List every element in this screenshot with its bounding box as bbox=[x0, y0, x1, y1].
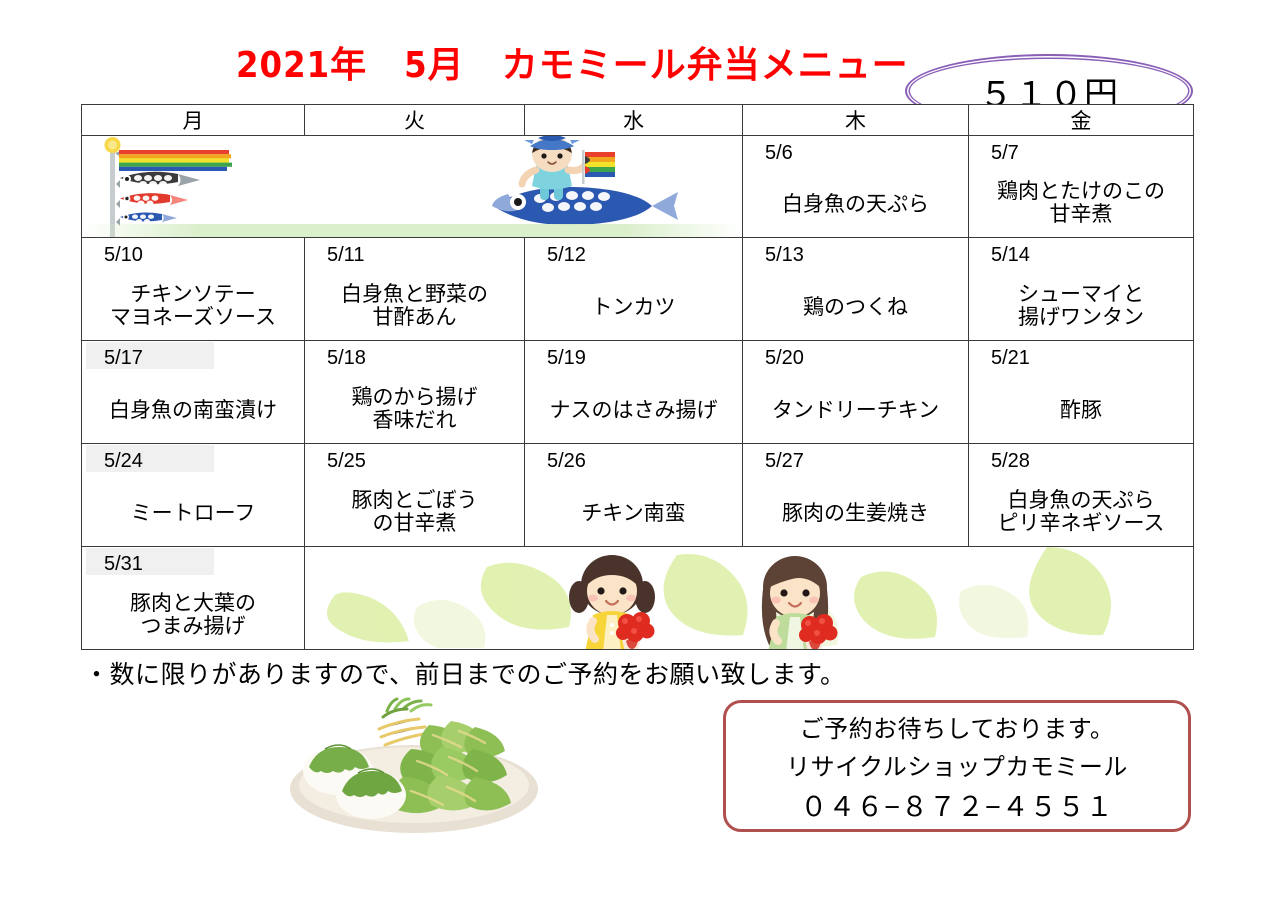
header-area: 2021年 5月 カモミール弁当メニュー ５１０円 bbox=[0, 26, 1280, 98]
cell-dish: 鶏のから揚げ 香味だれ bbox=[305, 386, 524, 433]
cell-date: 5/19 bbox=[547, 347, 586, 369]
cell-dish: 鶏肉とたけのこの 甘辛煮 bbox=[969, 180, 1193, 227]
calendar-cell-0520: 5/20 タンドリーチキン bbox=[743, 341, 969, 444]
weekday-header-mon: 月 bbox=[82, 105, 305, 136]
calendar-cell-0507: 5/7 鶏肉とたけのこの 甘辛煮 bbox=[969, 136, 1194, 238]
calendar-cell-0512: 5/12 トンカツ bbox=[525, 238, 743, 341]
cell-dish: ナスのはさみ揚げ bbox=[525, 399, 742, 423]
weekday-header-row: 月 火 水 木 金 bbox=[82, 105, 1194, 136]
cell-dish: ミートローフ bbox=[82, 502, 304, 526]
contact-greeting: ご予約お待ちしております。 bbox=[800, 709, 1115, 744]
cell-dish: 白身魚の南蛮漬け bbox=[82, 399, 304, 423]
cell-dish: 白身魚の天ぷら bbox=[743, 193, 968, 217]
cell-date: 5/20 bbox=[765, 347, 804, 369]
cell-dish: トンカツ bbox=[525, 296, 742, 320]
weekday-header-wed: 水 bbox=[525, 105, 743, 136]
cell-dish: 白身魚と野菜の 甘酢あん bbox=[305, 283, 524, 330]
cell-date: 5/26 bbox=[547, 450, 586, 472]
chimaki-kashiwamochi-icon bbox=[283, 697, 545, 837]
calendar-cell-0511: 5/11 白身魚と野菜の 甘酢あん bbox=[305, 238, 525, 341]
calendar-cell-0513: 5/13 鶏のつくね bbox=[743, 238, 969, 341]
week-row-4: 5/24 ミートローフ 5/25 豚肉とごぼう の甘辛煮 5/26 チキン南蛮 … bbox=[82, 444, 1194, 547]
weekday-header-tue: 火 bbox=[305, 105, 525, 136]
calendar-cell-0518: 5/18 鶏のから揚げ 香味だれ bbox=[305, 341, 525, 444]
weekday-header-thu: 木 bbox=[743, 105, 969, 136]
cell-dish: タンドリーチキン bbox=[743, 399, 968, 423]
calendar-cell-0526: 5/26 チキン南蛮 bbox=[525, 444, 743, 547]
reservation-note: ・数に限りがありますので、前日までのご予約をお願い致します。 bbox=[84, 655, 846, 691]
contact-box: ご予約お待ちしております。 リサイクルショップカモミール ０４６−８７２−４５５… bbox=[723, 700, 1191, 832]
cell-dish: シューマイと 揚げワンタン bbox=[969, 283, 1193, 330]
cell-date: 5/25 bbox=[327, 450, 366, 472]
cell-dish: 豚肉の生姜焼き bbox=[743, 502, 968, 526]
cell-date: 5/10 bbox=[104, 244, 143, 266]
girl-with-carnations-icon bbox=[740, 551, 850, 650]
cell-dish: 豚肉とごぼう の甘辛煮 bbox=[305, 489, 524, 536]
page-title: 2021年 5月 カモミール弁当メニュー bbox=[236, 36, 909, 88]
cell-date: 5/11 bbox=[327, 244, 364, 266]
cell-date: 5/21 bbox=[991, 347, 1030, 369]
week-row-3: 5/17 白身魚の南蛮漬け 5/18 鶏のから揚げ 香味だれ 5/19 ナスのは… bbox=[82, 341, 1194, 444]
cell-date: 5/28 bbox=[991, 450, 1030, 472]
chimaki-plate-illustration bbox=[283, 697, 545, 837]
cell-date: 5/24 bbox=[104, 450, 143, 472]
cell-dish: チキン南蛮 bbox=[525, 502, 742, 526]
calendar-cell-0527: 5/27 豚肉の生姜焼き bbox=[743, 444, 969, 547]
cell-date: 5/14 bbox=[991, 244, 1030, 266]
calendar-cell-0517: 5/17 白身魚の南蛮漬け bbox=[82, 341, 305, 444]
cell-date: 5/27 bbox=[765, 450, 804, 472]
koinobori-illustration-cell bbox=[82, 136, 743, 238]
cell-dish: 豚肉と大葉の つまみ揚げ bbox=[82, 592, 304, 639]
cell-date: 5/7 bbox=[991, 142, 1019, 164]
calendar-cell-0525: 5/25 豚肉とごぼう の甘辛煮 bbox=[305, 444, 525, 547]
calendar-cell-0510: 5/10 チキンソテー マヨネーズソース bbox=[82, 238, 305, 341]
cell-date: 5/31 bbox=[104, 553, 143, 575]
contact-phone-number: ０４６−８７２−４５５１ bbox=[800, 785, 1114, 824]
cell-date: 5/18 bbox=[327, 347, 366, 369]
koinobori-icon bbox=[86, 136, 386, 238]
cell-dish: チキンソテー マヨネーズソース bbox=[82, 283, 304, 330]
week-row-2: 5/10 チキンソテー マヨネーズソース 5/11 白身魚と野菜の 甘酢あん 5… bbox=[82, 238, 1194, 341]
cell-date: 5/17 bbox=[104, 347, 143, 369]
calendar-cell-0531: 5/31 豚肉と大葉の つまみ揚げ bbox=[82, 547, 305, 650]
weekday-header-fri: 金 bbox=[969, 105, 1194, 136]
girl-with-carnations-icon bbox=[557, 551, 667, 650]
menu-calendar: 月 火 水 木 金 bbox=[81, 104, 1194, 650]
cell-date: 5/6 bbox=[765, 142, 793, 164]
calendar-cell-0521: 5/21 酢豚 bbox=[969, 341, 1194, 444]
cell-dish: 酢豚 bbox=[969, 399, 1193, 423]
calendar-cell-0506: 5/6 白身魚の天ぷら bbox=[743, 136, 969, 238]
boy-riding-carp-icon bbox=[480, 136, 710, 238]
calendar-cell-0524: 5/24 ミートローフ bbox=[82, 444, 305, 547]
week-row-1: 5/6 白身魚の天ぷら 5/7 鶏肉とたけのこの 甘辛煮 bbox=[82, 136, 1194, 238]
carnation-girls-illustration-cell bbox=[305, 547, 1194, 650]
calendar-cell-0528: 5/28 白身魚の天ぷら ピリ辛ネギソース bbox=[969, 444, 1194, 547]
cell-date: 5/12 bbox=[547, 244, 586, 266]
grass-strip bbox=[82, 224, 742, 237]
cell-date: 5/13 bbox=[765, 244, 804, 266]
calendar-cell-0514: 5/14 シューマイと 揚げワンタン bbox=[969, 238, 1194, 341]
cell-dish: 白身魚の天ぷら ピリ辛ネギソース bbox=[969, 489, 1193, 536]
calendar-cell-0519: 5/19 ナスのはさみ揚げ bbox=[525, 341, 743, 444]
contact-shop-name: リサイクルショップカモミール bbox=[786, 747, 1128, 782]
cell-dish: 鶏のつくね bbox=[743, 296, 968, 320]
week-row-5: 5/31 豚肉と大葉の つまみ揚げ bbox=[82, 547, 1194, 650]
